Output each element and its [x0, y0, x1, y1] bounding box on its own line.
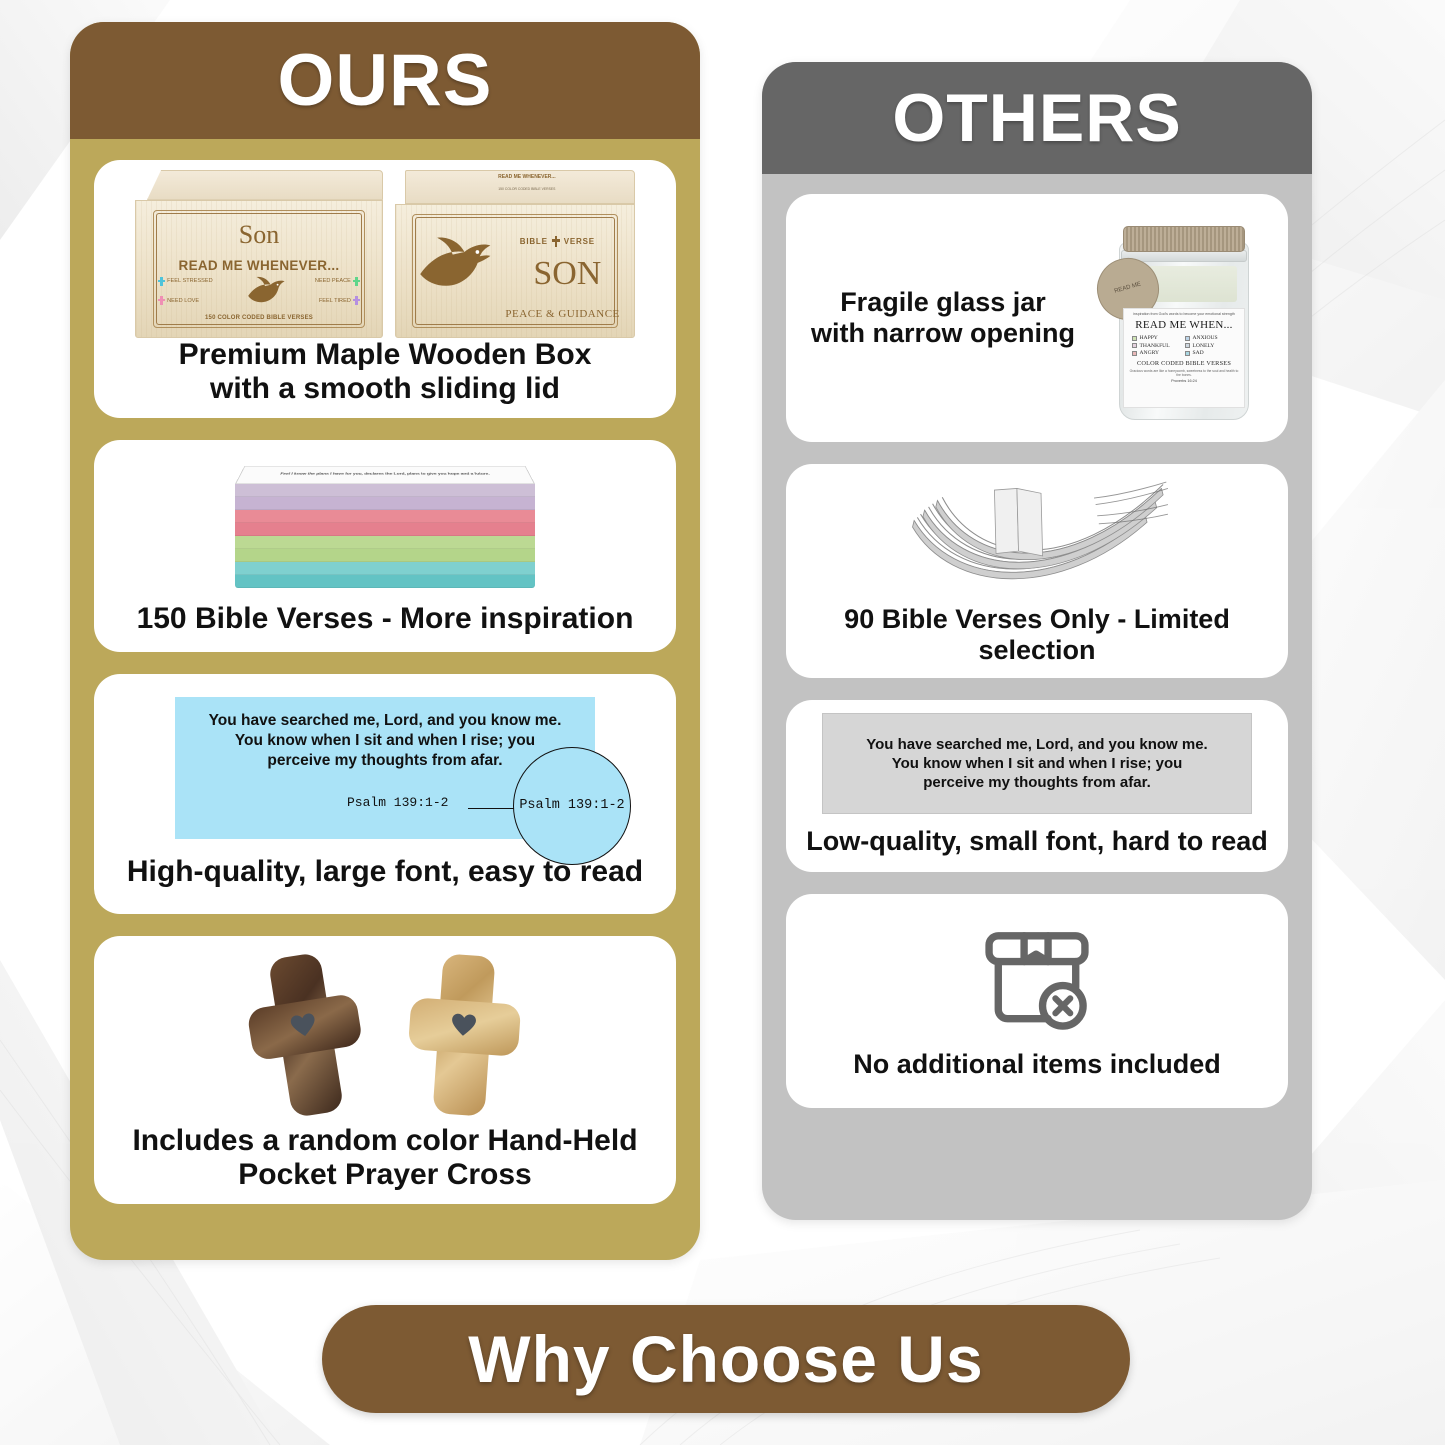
verse-line-1: You have searched me, Lord, and you know… [193, 711, 577, 731]
jar-label-reference: Proverbs 16:24 [1128, 379, 1240, 383]
jar-label-mood-grid: HAPPY ANXIOUS THANKFUL LONELY ANGRY SAD [1128, 335, 1240, 356]
comparison-column-others: OTHERS Fragile glass jar with narrow ope… [762, 62, 1312, 1220]
verse-reference: Psalm 139:1-2 [347, 795, 448, 810]
ours-card-verse-count[interactable]: Feel I know the plans I have for you, de… [94, 440, 676, 652]
verse-line-2: You know when I sit and when I rise; you [866, 754, 1207, 773]
box-left-tag-1: NEED PEACE [315, 277, 360, 286]
others-card-glass-jar[interactable]: Fragile glass jar with narrow opening RE… [786, 194, 1288, 442]
wooden-box-right: READ ME WHENEVER... 150 COLOR CODED BIBL… [395, 170, 635, 338]
jar-label-title: READ ME WHEN... [1128, 319, 1240, 331]
verse-line-3: perceive my thoughts from afar. [866, 773, 1207, 792]
box-left-tag-0: FEEL STRESSED [158, 277, 213, 286]
ours-card-wooden-box[interactable]: Son READ ME WHENEVER... FEEL STRESSED [94, 160, 676, 418]
box-right-eyebrow: BIBLE VERSE [520, 236, 595, 247]
dove-icon-large [415, 234, 493, 296]
verse-line-2: You know when I sit and when I rise; you [193, 731, 577, 751]
ours-card-list: Son READ ME WHENEVER... FEEL STRESSED [70, 139, 700, 1226]
others-caption-no-extras: No additional items included [853, 1049, 1221, 1080]
ours-card-readability[interactable]: You have searched me, Lord, and you know… [94, 674, 676, 914]
others-header: OTHERS [762, 62, 1312, 174]
mood-item: LONELY [1185, 343, 1236, 349]
verse-line-3: perceive my thoughts from afar. [193, 751, 577, 771]
prayer-cross-dark [239, 947, 373, 1122]
why-choose-us-banner[interactable]: Why Choose Us [322, 1305, 1130, 1413]
box-left-tag-3: FEEL TIRED [319, 296, 360, 305]
magnified-reference: Psalm 139:1-2 [519, 798, 624, 813]
glass-jar-image: READ ME inspiration from God's words to … [1105, 212, 1263, 424]
ours-caption-prayer-cross: Includes a random color Hand-Held Pocket… [132, 1124, 637, 1192]
jar-label-footer: COLOR CODED BIBLE VERSES [1128, 360, 1240, 367]
others-caption-verse-count: 90 Bible Verses Only - Limited selection [798, 604, 1276, 666]
mood-item: ANGRY [1132, 350, 1183, 356]
verse-line-1: You have searched me, Lord, and you know… [866, 735, 1207, 754]
ours-header: OURS [70, 22, 700, 139]
others-card-verse-count[interactable]: 90 Bible Verses Only - Limited selection [786, 464, 1288, 678]
mood-item: SAD [1185, 350, 1236, 356]
heart-icon [450, 1012, 478, 1038]
verse-card-stack-image: Feel I know the plans I have for you, de… [235, 454, 535, 588]
mood-item: HAPPY [1132, 335, 1183, 341]
wooden-box-left: Son READ ME WHENEVER... FEEL STRESSED [135, 170, 383, 338]
jar-label-top-fine: inspiration from God's words to become y… [1128, 312, 1240, 316]
others-caption-glass-jar: Fragile glass jar with narrow opening [811, 287, 1075, 350]
package-excluded-icon [978, 921, 1096, 1039]
why-choose-us-label: Why Choose Us [468, 1321, 983, 1397]
box-left-tag-2: NEED LOVE [158, 296, 199, 305]
ours-card-prayer-cross[interactable]: Includes a random color Hand-Held Pocket… [94, 936, 676, 1204]
jar-label: inspiration from God's words to become y… [1123, 308, 1245, 408]
magnifier-circle: Psalm 139:1-2 [513, 747, 631, 865]
mood-item: THANKFUL [1132, 343, 1183, 349]
box-left-subtitle: READ ME WHENEVER... [136, 258, 382, 273]
box-right-name: SON [515, 255, 620, 293]
jar-label-fine-print: Gracious words are like a honeycomb, swe… [1128, 370, 1240, 378]
stack-top-card-text: Feel I know the plans I have for you, de… [235, 466, 535, 484]
others-card-readability[interactable]: You have searched me, Lord, and you know… [786, 700, 1288, 872]
box-right-subtitle: PEACE & GUIDANCE [501, 308, 625, 320]
others-card-list: Fragile glass jar with narrow opening RE… [762, 174, 1312, 1130]
loose-paper-slips-image [872, 474, 1202, 594]
heart-icon [289, 1011, 318, 1039]
prayer-crosses-image [251, 946, 519, 1124]
dove-icon [244, 274, 286, 308]
mood-item: ANXIOUS [1185, 335, 1236, 341]
box-left-name: Son [136, 220, 382, 250]
comparison-column-ours: OURS Son READ ME WHENEVER... [70, 22, 700, 1260]
others-card-no-extras[interactable]: No additional items included [786, 894, 1288, 1108]
prayer-cross-light [404, 951, 525, 1118]
ours-caption-wooden-box: Premium Maple Wooden Box with a smooth s… [179, 338, 592, 406]
wooden-boxes-image: Son READ ME WHENEVER... FEEL STRESSED [135, 170, 635, 338]
others-caption-readability: Low-quality, small font, hard to read [806, 826, 1268, 857]
ours-caption-verse-count: 150 Bible Verses - More inspiration [137, 602, 634, 636]
verse-card-small: You have searched me, Lord, and you know… [822, 713, 1252, 814]
others-header-label: OTHERS [892, 79, 1181, 157]
verse-card-large: You have searched me, Lord, and you know… [175, 697, 595, 839]
ours-header-label: OURS [278, 39, 493, 122]
box-left-footer: 150 COLOR CODED BIBLE VERSES [136, 315, 382, 321]
